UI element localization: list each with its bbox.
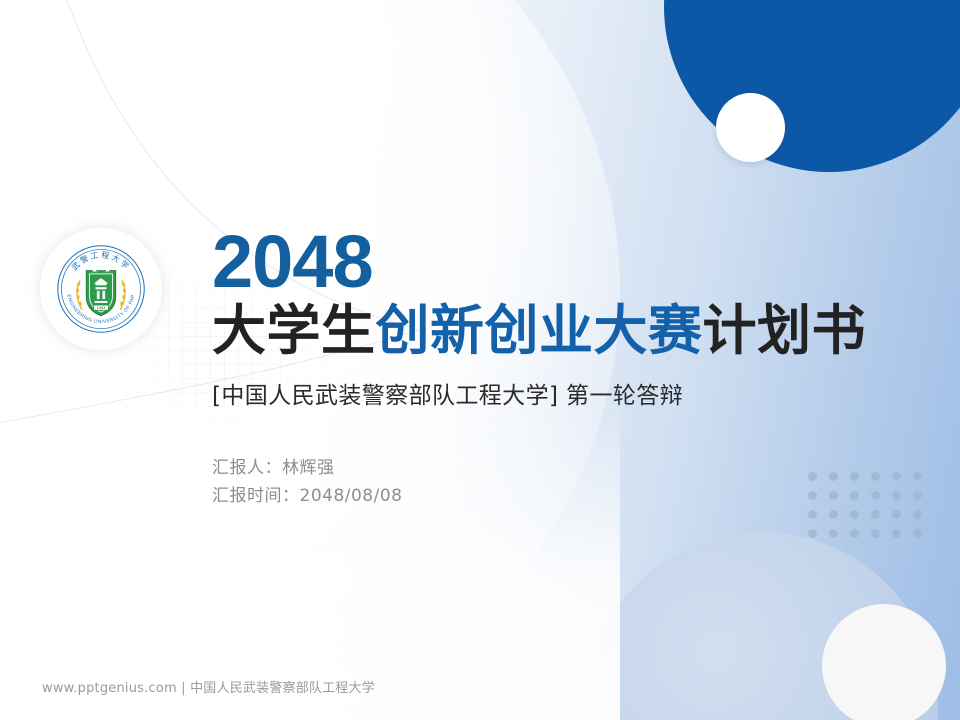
dot (913, 472, 922, 481)
decorative-circle-white-accent (716, 93, 785, 162)
dot (808, 510, 817, 519)
page-title: 大学生创新创业大赛计划书 (212, 300, 912, 362)
dot (871, 529, 880, 538)
svg-text:1983: 1983 (97, 306, 106, 310)
title-suffix: 计划书 (703, 299, 867, 362)
dot (892, 510, 901, 519)
dot (829, 510, 838, 519)
presentation-meta: 汇报人：林辉强 汇报时间：2048/08/08 (212, 454, 912, 510)
dot (850, 529, 859, 538)
presenter-line: 汇报人：林辉强 (212, 454, 912, 482)
subtitle: [中国人民武装警察部队工程大学] 第一轮答辩 (212, 380, 912, 412)
university-logo-icon: 武警工程大学 ENGINEERING UNIVERSITY OF PAP (55, 243, 147, 335)
dot (913, 510, 922, 519)
year-heading: 2048 (212, 222, 912, 302)
dot (808, 529, 817, 538)
dot (850, 510, 859, 519)
dot (871, 510, 880, 519)
title-text-block: 2048 大学生创新创业大赛计划书 [中国人民武装警察部队工程大学] 第一轮答辩… (212, 222, 912, 510)
decorative-circle-white-bottom-right (822, 604, 946, 720)
dot (913, 491, 922, 500)
date-line: 汇报时间：2048/08/08 (212, 482, 912, 510)
footer-credit: www.pptgenius.com | 中国人民武装警察部队工程大学 (42, 680, 375, 698)
title-prefix: 大学生 (212, 299, 376, 362)
dot (829, 529, 838, 538)
title-slide: 武警工程大学 ENGINEERING UNIVERSITY OF PAP (0, 0, 960, 720)
title-highlight: 创新创业大赛 (376, 299, 703, 362)
dot (913, 529, 922, 538)
dot (892, 529, 901, 538)
